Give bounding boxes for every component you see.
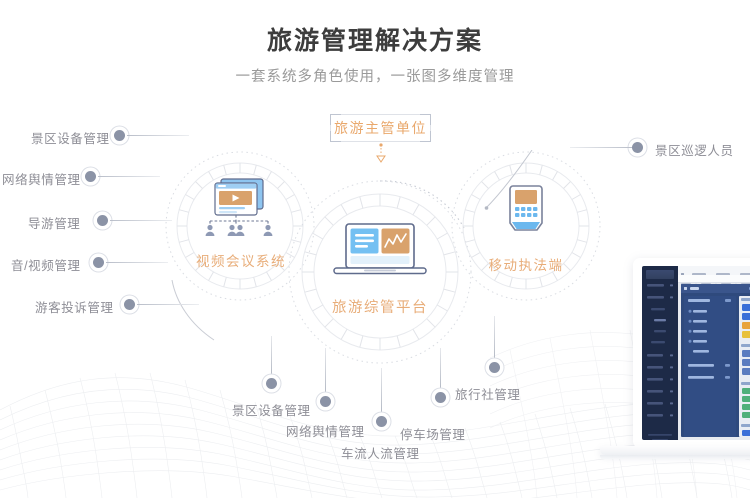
connector-line-bottom-4 (440, 348, 441, 394)
page-title: 旅游管理解决方案 (0, 26, 750, 56)
bottom-label-1: 景区设备管理 (232, 400, 311, 419)
header: 旅游管理解决方案 一套系统多角色使用，一张图多维度管理 (0, 0, 750, 86)
connector-line-bottom-3 (381, 368, 382, 418)
authority-label: 旅游主管单位 (334, 118, 427, 138)
connector-dot-left-3[interactable] (97, 215, 108, 226)
laptop-base (600, 446, 750, 455)
connector-dot-bottom-2[interactable] (320, 396, 331, 407)
node-label-mobile-enforcement: 移动执法端 (488, 254, 564, 274)
dashboard-sidebar (642, 266, 678, 440)
dashboard-subbar (678, 275, 750, 283)
edge-bottom (341, 141, 420, 142)
bottom-label-2: 网络舆情管理 (286, 421, 365, 440)
left-label-3: 导游管理 (28, 213, 80, 232)
authority-box[interactable]: 旅游主管单位 (330, 114, 431, 142)
dashboard-topbar (678, 266, 750, 275)
left-label-5: 游客投诉管理 (35, 297, 114, 316)
connector-line-left-5 (137, 304, 199, 305)
edge-right (430, 125, 431, 131)
connector-line-bottom-2 (325, 348, 326, 398)
right-label-1: 景区巡逻人员 (655, 140, 734, 159)
left-label-4: 音/视频管理 (11, 255, 81, 274)
connector-dot-left-4[interactable] (93, 257, 104, 268)
connector-dot-bottom-5[interactable] (489, 362, 500, 373)
laptop-base-shadow (600, 455, 750, 459)
node-mobile-enforcement[interactable]: 移动执法端 (488, 182, 564, 274)
bottom-label-4: 停车场管理 (400, 424, 466, 443)
left-label-1: 景区设备管理 (31, 128, 110, 147)
node-label-platform: 旅游综管平台 (324, 296, 436, 317)
connector-line-left-1 (127, 135, 189, 136)
curve-connector-left (168, 280, 238, 350)
connector-dot-bottom-3[interactable] (376, 416, 387, 427)
connector-dot-bottom-4[interactable] (435, 392, 446, 403)
video-conference-icon (196, 176, 284, 238)
node-video-conference[interactable]: 视频会议系统 (196, 176, 284, 270)
dashboard-panel-content (681, 284, 750, 437)
laptop-dashboard-mockup (633, 258, 750, 473)
connector-line-left-3 (110, 220, 172, 221)
connector-dot-left-5[interactable] (124, 299, 135, 310)
node-platform[interactable]: 旅游综管平台 (324, 222, 436, 317)
laptop-platform-icon (324, 222, 436, 284)
dashboard-menu-placeholder (642, 282, 678, 440)
node-label-video-conference: 视频会议系统 (196, 250, 284, 270)
connector-line-right-1 (570, 147, 632, 148)
connector-dot-right-1[interactable] (632, 142, 643, 153)
authority-arrow-icon (374, 143, 388, 165)
connector-line-bottom-1 (271, 336, 272, 380)
infographic-canvas: 旅游管理解决方案 一套系统多角色使用，一张图多维度管理 (0, 0, 750, 498)
page-subtitle: 一套系统多角色使用，一张图多维度管理 (0, 69, 750, 86)
connector-line-left-2 (98, 176, 160, 177)
dashboard-ui (642, 266, 750, 440)
connector-line-bottom-5 (494, 316, 495, 364)
connector-dot-left-1[interactable] (114, 130, 125, 141)
connector-dot-bottom-1[interactable] (266, 378, 277, 389)
edge-top (341, 114, 420, 115)
dashboard-main (678, 266, 750, 440)
mobile-enforcement-icon (488, 182, 564, 242)
laptop-screen (633, 258, 750, 448)
dashboard-logo (646, 270, 674, 279)
bottom-label-3: 车流人流管理 (341, 443, 420, 462)
edge-left (330, 125, 331, 131)
bottom-label-5: 旅行社管理 (455, 384, 521, 403)
left-label-2: 网络舆情管理 (2, 169, 81, 188)
dashboard-content-panel (681, 284, 750, 437)
connector-dot-left-2[interactable] (85, 171, 96, 182)
connector-line-left-4 (106, 262, 168, 263)
